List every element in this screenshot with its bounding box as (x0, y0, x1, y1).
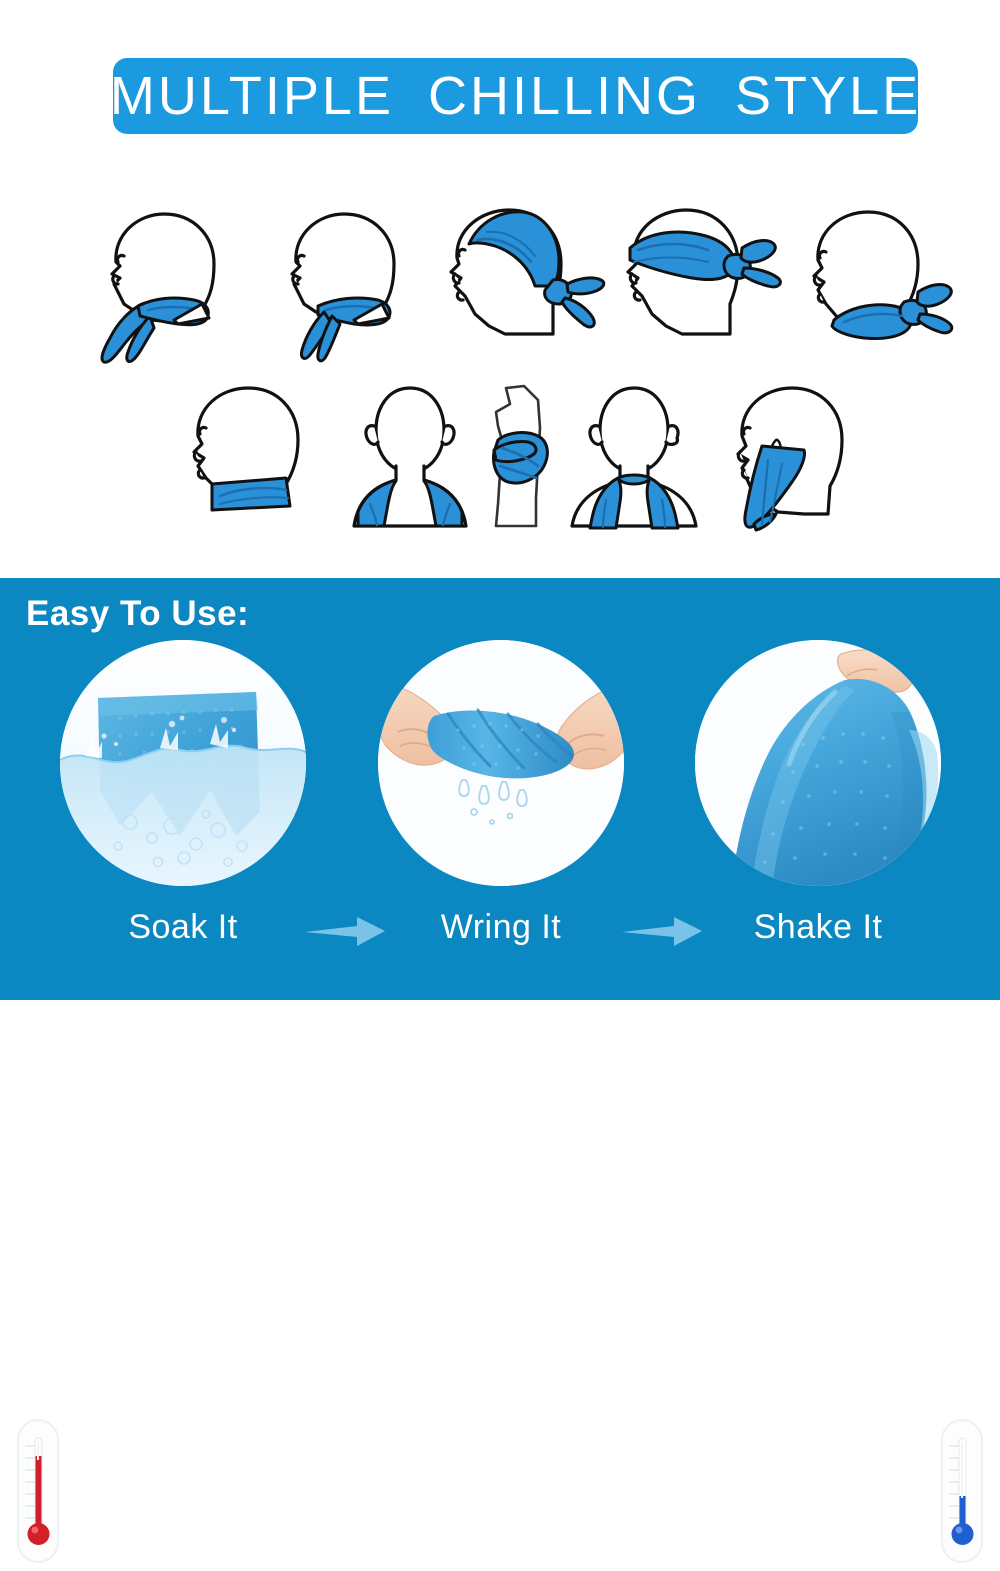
style-figure-face-wipe (712, 378, 887, 538)
step-label-soak: Soak It (60, 908, 306, 947)
arrow-right-icon-1 (305, 915, 385, 954)
style-figure-neck-scarf-hanging (78, 200, 248, 365)
step-label-shake: Shake It (695, 908, 941, 947)
arrow-right-icon-2 (622, 915, 702, 954)
photo-hand-shaking-towel (695, 640, 941, 886)
style-figure-shoulder-drape (340, 378, 480, 533)
easy-to-use-heading: Easy To Use: (26, 594, 249, 634)
style-figure-headband-tied (612, 200, 792, 365)
style-figure-neckerchief-back-tie (790, 200, 965, 365)
page-title: MULTIPLE CHILLING STYLE (110, 69, 921, 123)
thermometer-hot-icon (12, 1416, 64, 1571)
photo-towel-soaking-in-water (60, 640, 306, 886)
style-figure-wrist-arm-wrap (478, 378, 568, 533)
style-figure-neck-gaiter-collar (168, 378, 343, 533)
style-figure-neck-scarf-knot (258, 200, 428, 365)
step-label-wring: Wring It (378, 908, 624, 947)
infographic-page: MULTIPLE CHILLING STYLE (0, 0, 1000, 1000)
style-figure-towel-around-neck (560, 378, 710, 533)
title-banner: MULTIPLE CHILLING STYLE (113, 58, 918, 134)
photo-hands-wringing-towel (378, 640, 624, 886)
style-figure-pirate-head-wrap (435, 200, 615, 365)
thermometer-cold-icon (936, 1416, 988, 1571)
